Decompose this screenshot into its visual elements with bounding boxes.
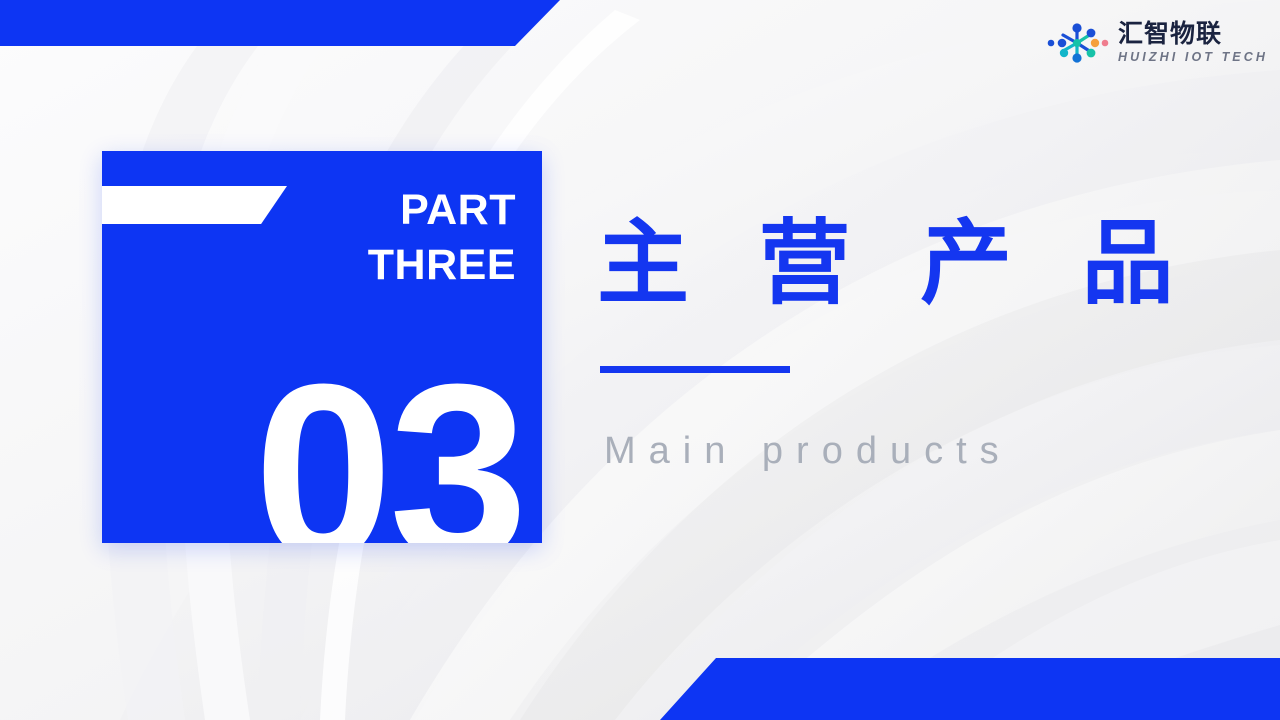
part-label-line2: THREE [266, 238, 516, 293]
blue-angled-bar-bottom-right [660, 658, 1280, 720]
blue-angled-bar-top-left [0, 0, 560, 46]
logo-subtitle: HUIZHI IOT TECH [1118, 51, 1268, 64]
presentation-slide: PART THREE 03 主 营 产 品 Main products [0, 0, 1280, 720]
page-subtitle: Main products [604, 430, 1012, 473]
title-underline-rule [600, 366, 790, 373]
company-logo: 汇智物联 HUIZHI IOT TECH [1047, 22, 1268, 64]
page-title: 主 营 产 品 [597, 214, 1196, 315]
logo-title: 汇智物联 [1118, 22, 1222, 47]
logo-text-group: 汇智物联 HUIZHI IOT TECH [1118, 22, 1268, 64]
part-label: PART THREE [266, 183, 516, 293]
part-number: 03 [254, 347, 524, 543]
huizhi-molecule-logo-icon [1047, 23, 1109, 63]
white-angled-bar [102, 186, 287, 224]
part-label-line1: PART [266, 183, 516, 238]
part-number-card: PART THREE 03 [102, 151, 542, 543]
